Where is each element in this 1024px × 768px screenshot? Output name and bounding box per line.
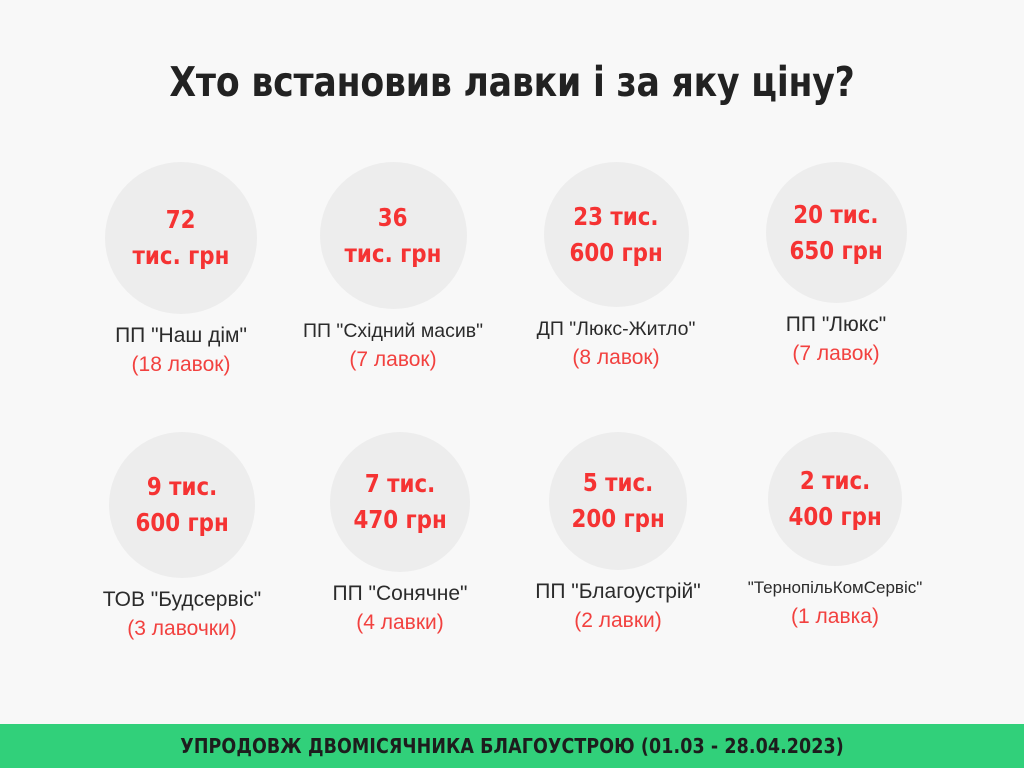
amount-text-line: тис. грн [345, 236, 442, 272]
amount-text-line: тис. грн [133, 238, 230, 274]
footer-banner: УПРОДОВЖ ДВОМІСЯЧНИКА БЛАГОУСТРОЮ (01.03… [0, 724, 1024, 768]
amount-text-line: 9 тис. [147, 469, 217, 505]
amount-bubble: 5 тис.200 грн [549, 432, 687, 570]
amount-text-line: 200 грн [571, 501, 664, 537]
amount-text-line: 7 тис. [365, 466, 435, 502]
bubble-row-1: 72тис. грнПП "Наш дім"(18 лавок)36тис. г… [0, 162, 1024, 392]
page-title: Хто встановив лавки і за яку ціну? [31, 58, 994, 106]
amount-text-line: 36 [378, 200, 408, 236]
contractor-name: ПП "Люкс" [706, 311, 966, 339]
bench-count: (7 лавок) [263, 345, 523, 375]
amount-bubble: 23 тис.600 грн [544, 162, 689, 307]
amount-text-line: 650 грн [789, 233, 882, 269]
amount-text-line: 2 тис. [800, 463, 870, 499]
amount-text-line: 600 грн [135, 505, 228, 541]
contractor-labels: ПП "Люкс"(7 лавок) [706, 311, 966, 369]
amount-bubble: 9 тис.600 грн [109, 432, 255, 578]
amount-text-line: 5 тис. [583, 465, 653, 501]
amount-bubble: 20 тис.650 грн [766, 162, 907, 303]
contractor-cell: 36тис. грнПП "Східний масив"(7 лавок) [263, 162, 523, 375]
amount-text-line: 400 грн [788, 499, 881, 535]
bench-count: (7 лавок) [706, 339, 966, 369]
contractor-cell: 2 тис.400 грн"ТернопільКомСервіс"(1 лавк… [705, 432, 965, 632]
infographic-root: Хто встановив лавки і за яку ціну? 72тис… [0, 0, 1024, 768]
amount-text-line: 20 тис. [793, 197, 878, 233]
amount-bubble: 72тис. грн [105, 162, 257, 314]
contractor-labels: "ТернопільКомСервіс"(1 лавка) [705, 574, 965, 632]
contractor-name: ПП "Східний масив" [263, 317, 523, 345]
contractor-cell: 20 тис.650 грнПП "Люкс"(7 лавок) [706, 162, 966, 369]
amount-text-line: 23 тис. [573, 199, 658, 235]
bench-count: (1 лавка) [705, 602, 965, 632]
amount-bubble: 36тис. грн [320, 162, 467, 309]
contractor-labels: ПП "Східний масив"(7 лавок) [263, 317, 523, 375]
contractor-name: "ТернопільКомСервіс" [705, 574, 965, 602]
amount-text-line: 600 грн [569, 235, 662, 271]
amount-text-line: 470 грн [353, 502, 446, 538]
amount-bubble: 2 тис.400 грн [768, 432, 902, 566]
amount-bubble: 7 тис.470 грн [330, 432, 470, 572]
footer-banner-text: УПРОДОВЖ ДВОМІСЯЧНИКА БЛАГОУСТРОЮ (01.03… [180, 734, 844, 758]
bubble-row-2: 9 тис.600 грнТОВ "Будсервіс"(3 лавочки)7… [0, 432, 1024, 662]
amount-text-line: 72 [166, 202, 196, 238]
